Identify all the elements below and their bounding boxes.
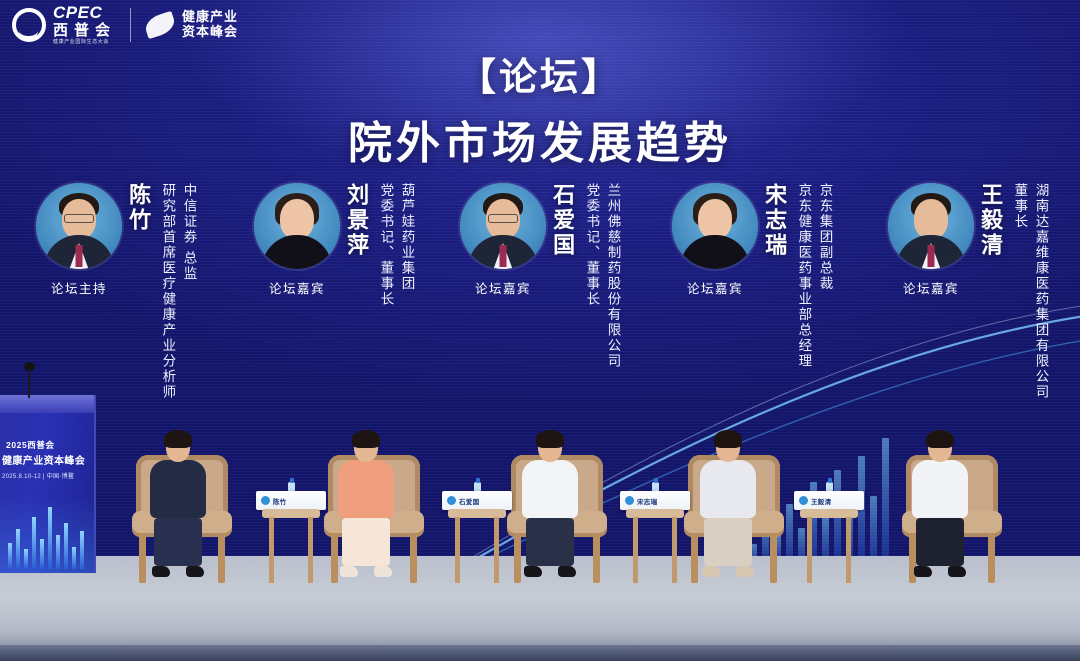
nameplate: 陈竹	[256, 491, 326, 510]
seated-panelist	[150, 434, 206, 577]
conference-stage-screenshot: CPEC 西普会 健康产业国际生态大会 健康产业 资本峰会 【论坛】 院外市场发…	[0, 0, 1080, 661]
cpec-logo-cn: 西普会	[53, 23, 116, 38]
cpec-circle-logo-icon	[12, 8, 46, 42]
glasses-icon	[488, 214, 518, 223]
panelist-org-line: 兰州佛慈制药股份有限公司	[603, 183, 621, 369]
podium-line3: 2025.8.10-12 | 中国·博鳌	[2, 471, 96, 480]
panelist-role: 论坛嘉宾	[687, 278, 743, 297]
panelist-org-line: 京东集团副总裁	[815, 183, 833, 369]
header-logos: CPEC 西普会 健康产业国际生态大会 健康产业 资本峰会	[12, 4, 238, 45]
panelist-org-line: 研究部首席医疗健康产业分析师	[158, 183, 176, 400]
forum-title-block: 【论坛】 院外市场发展趋势	[0, 46, 1080, 171]
panelist-name: 石爱国	[551, 183, 574, 258]
nameplate: 宋志瑞	[620, 491, 690, 510]
panelist-name: 陈竹	[127, 183, 150, 233]
cpec-logo-en: CPEC	[53, 4, 116, 21]
nameplate-logo-icon	[261, 496, 270, 505]
health-logo-line1: 健康产业	[182, 10, 238, 25]
side-table: 宋志瑞	[626, 509, 684, 583]
panelist-org-line: 中信证券 总监	[179, 183, 197, 400]
avatar	[460, 183, 546, 269]
panelist-card: 论坛嘉宾 刘景萍 党委书记、董事长 葫芦娃药业集团	[254, 183, 416, 307]
avatar	[36, 183, 122, 269]
nameplate-logo-icon	[447, 496, 456, 505]
logo-divider	[130, 8, 131, 42]
forum-title-line1: 【论坛】	[0, 46, 1080, 101]
panelist-card: 论坛嘉宾 王毅清 董事长 湖南达嘉维康医药集团有限公司	[888, 183, 1050, 400]
seated-panelist	[912, 434, 968, 577]
nameplate: 王毅清	[794, 491, 864, 510]
cpec-logo: CPEC 西普会 健康产业国际生态大会	[12, 4, 116, 45]
panelist-org-line: 董事长	[1010, 183, 1028, 400]
panelist-org-line: 葫芦娃药业集团	[397, 183, 415, 307]
panelist-org-line: 京东健康医药事业部总经理	[794, 183, 812, 369]
avatar	[888, 183, 974, 269]
panelist-role: 论坛嘉宾	[903, 278, 959, 297]
panelist-org-line: 党委书记、董事长	[376, 183, 394, 307]
seated-panelist	[700, 434, 756, 577]
panelist-card: 论坛主持 陈竹 研究部首席医疗健康产业分析师 中信证券 总监	[36, 183, 198, 400]
nameplate-text: 宋志瑞	[637, 496, 657, 506]
forum-title-line2: 院外市场发展趋势	[0, 107, 1080, 171]
stage-floor-edge	[0, 645, 1080, 661]
seated-panelist	[338, 434, 394, 577]
nameplate-logo-icon	[625, 496, 634, 505]
health-capital-logo: 健康产业 资本峰会	[145, 10, 238, 40]
side-table: 石爱国	[448, 509, 506, 583]
panelist-role: 论坛嘉宾	[269, 278, 325, 297]
microphone-icon	[28, 368, 30, 398]
panelist-role: 论坛嘉宾	[475, 278, 531, 297]
nameplate-text: 陈竹	[273, 496, 287, 506]
nameplate-text: 王毅清	[811, 496, 831, 506]
panelist-name: 宋志瑞	[763, 183, 786, 258]
panelist-org-line: 湖南达嘉维康医药集团有限公司	[1031, 183, 1049, 400]
panelist-card: 论坛嘉宾 宋志瑞 京东健康医药事业部总经理 京东集团副总裁	[672, 183, 834, 369]
glasses-icon	[64, 214, 94, 223]
leaf-logo-icon	[143, 10, 178, 38]
panelist-role: 论坛主持	[51, 278, 107, 297]
side-table: 王毅清	[800, 509, 858, 583]
panelist-name: 刘景萍	[345, 183, 368, 258]
cpec-logo-sub: 健康产业国际生态大会	[53, 40, 116, 45]
podium-line1: 2025西普会	[6, 439, 92, 451]
podium-line2: 健康产业资本峰会	[2, 452, 96, 467]
health-logo-line2: 资本峰会	[182, 25, 238, 40]
nameplate-text: 石爱国	[459, 496, 479, 506]
avatar	[672, 183, 758, 269]
avatar	[254, 183, 340, 269]
seated-panelist	[522, 434, 578, 577]
nameplate: 石爱国	[442, 491, 512, 510]
nameplate-logo-icon	[799, 496, 808, 505]
panelist-org-line: 党委书记、董事长	[582, 183, 600, 369]
panelist-name: 王毅清	[979, 183, 1002, 258]
panelist-card: 论坛嘉宾 石爱国 党委书记、董事长 兰州佛慈制药股份有限公司	[460, 183, 622, 369]
panelist-card-list: 论坛主持 陈竹 研究部首席医疗健康产业分析师 中信证券 总监 论坛嘉宾 刘景萍 …	[0, 183, 1080, 423]
side-table: 陈竹	[262, 509, 320, 583]
